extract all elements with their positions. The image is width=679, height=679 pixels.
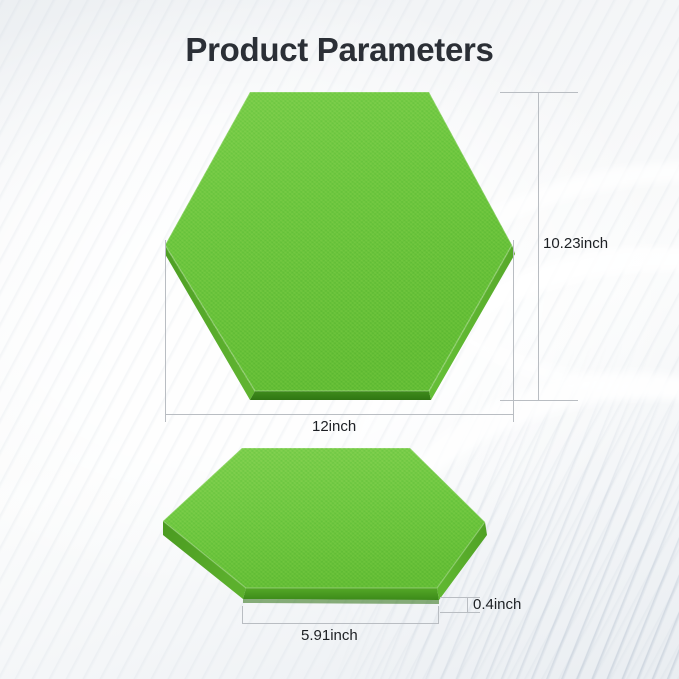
perspective-view-hexagon (160, 442, 490, 617)
page-title: Product Parameters (0, 31, 679, 69)
dimension-label-thickness: 0.4inch (473, 596, 521, 613)
extension-line-side-left (242, 606, 243, 624)
extension-line-left (165, 240, 166, 422)
extension-line-bottom (500, 400, 578, 401)
extension-line-side-right (438, 606, 439, 624)
dimension-line-width (165, 414, 513, 415)
dimension-line-side-length (242, 623, 438, 624)
dimension-label-side-length: 5.91inch (301, 627, 358, 644)
hexagon-bottom-edge (250, 391, 431, 400)
dimension-line-height (538, 92, 539, 400)
dimension-line-thickness (467, 597, 468, 612)
product-parameters-diagram: Product Parameters (0, 0, 679, 679)
extension-line-right (513, 240, 514, 422)
dimension-label-height: 10.23inch (543, 235, 608, 252)
hexagon-perspective-bottom-edge (243, 588, 439, 600)
extension-line-top (500, 92, 578, 93)
front-view-hexagon (160, 86, 520, 411)
dimension-label-width: 12inch (312, 418, 356, 435)
